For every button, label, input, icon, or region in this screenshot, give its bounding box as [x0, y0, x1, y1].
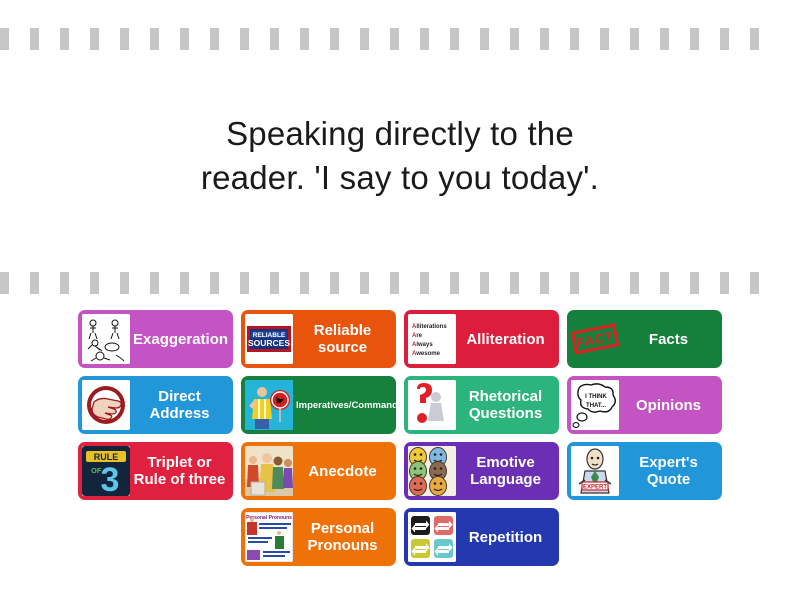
answer-card-label: Direct Address — [130, 388, 229, 422]
divider-dash — [450, 272, 459, 294]
divider-dash — [360, 272, 369, 294]
answer-card-label: Personal Pronouns — [293, 520, 392, 554]
rule-of-three-thumb: RULEOF3 — [82, 446, 130, 496]
divider-dash — [90, 28, 99, 50]
divider-dash — [180, 28, 189, 50]
divider-dash — [420, 272, 429, 294]
answer-card-repetition[interactable]: Repetition — [404, 508, 559, 566]
emotion-faces-thumb — [408, 446, 456, 496]
answer-card-label: Repetition — [456, 529, 555, 546]
fact-stamp-thumb: FACT — [571, 314, 619, 364]
divider-dash — [600, 272, 609, 294]
divider-dash — [300, 28, 309, 50]
divider-dash — [270, 272, 279, 294]
divider-dash — [540, 272, 549, 294]
answer-row: Personal PronounsPersonal PronounsRepeti… — [241, 508, 559, 566]
divider-dash — [210, 272, 219, 294]
divider-dash — [0, 28, 9, 50]
worker-stop-sign-thumb — [245, 380, 293, 430]
divider-dash — [720, 28, 729, 50]
divider-dash — [30, 28, 39, 50]
alliteration-text-thumb: AlliterationsAreAlwaysAwesome — [408, 314, 456, 364]
question-text: Speaking directly to the reader. 'I say … — [0, 112, 800, 200]
answer-card-label: Alliteration — [456, 331, 555, 348]
question-mark-figure-thumb — [408, 380, 456, 430]
personal-pronouns-thumb: Personal Pronouns — [245, 512, 293, 562]
divider-dash — [630, 272, 639, 294]
answer-row: Direct AddressImperatives/CommandsRhetor… — [78, 376, 722, 434]
divider-dash — [270, 28, 279, 50]
svg-text:THAT...: THAT... — [586, 403, 606, 409]
people-scene-thumb — [245, 446, 293, 496]
answer-card-anecdote[interactable]: Anecdote — [241, 442, 396, 500]
divider-dash — [510, 272, 519, 294]
answer-card-label: Reliable source — [293, 322, 392, 356]
divider-dash — [660, 28, 669, 50]
answer-card-exaggeration[interactable]: Exaggeration — [78, 310, 233, 368]
answer-card-label: Rhetorical Questions — [456, 388, 555, 422]
expert-figure-thumb: EXPERT — [571, 446, 619, 496]
divider-dash — [720, 272, 729, 294]
answer-card-facts[interactable]: FACTFacts — [567, 310, 722, 368]
svg-text:3: 3 — [101, 461, 120, 496]
sketch-figures-thumb — [82, 314, 130, 364]
answer-row: ExaggerationRELIABLESOURCESReliable sour… — [78, 310, 722, 368]
answer-card-personal-pronouns[interactable]: Personal PronounsPersonal Pronouns — [241, 508, 396, 566]
divider-dash — [150, 28, 159, 50]
divider-dash — [480, 28, 489, 50]
answer-card-alliteration[interactable]: AlliterationsAreAlwaysAwesomeAlliteratio… — [404, 310, 559, 368]
divider-dash — [300, 272, 309, 294]
divider-dash — [240, 272, 249, 294]
answer-card-direct-address[interactable]: Direct Address — [78, 376, 233, 434]
divider-dash — [390, 272, 399, 294]
divider-dash — [120, 28, 129, 50]
svg-text:Awesome: Awesome — [412, 351, 441, 357]
answer-card-experts-quote[interactable]: EXPERTExpert's Quote — [567, 442, 722, 500]
answer-row: RULEOF3Triplet or Rule of threeAnecdoteE… — [78, 442, 722, 500]
question-line-2: reader. 'I say to you today'. — [0, 156, 800, 200]
thought-bubble-thumb: I THINKTHAT... — [571, 380, 619, 430]
divider-dash — [30, 272, 39, 294]
answer-card-imperatives[interactable]: Imperatives/Commands — [241, 376, 396, 434]
divider-dash — [600, 28, 609, 50]
answer-card-label: Facts — [619, 331, 718, 348]
dashed-divider-top — [0, 28, 800, 50]
answer-card-label: Imperatives/Commands — [293, 400, 396, 411]
divider-dash — [480, 272, 489, 294]
divider-dash — [150, 272, 159, 294]
divider-dash — [750, 272, 759, 294]
divider-dash — [180, 272, 189, 294]
divider-dash — [630, 28, 639, 50]
divider-dash — [0, 272, 9, 294]
svg-text:I THINK: I THINK — [585, 394, 607, 400]
divider-dash — [420, 28, 429, 50]
svg-text:SOURCES: SOURCES — [248, 338, 290, 348]
divider-dash — [570, 28, 579, 50]
repeat-arrows-thumb — [408, 512, 456, 562]
divider-dash — [570, 272, 579, 294]
reliable-sources-thumb: RELIABLESOURCES — [245, 314, 293, 364]
divider-dash — [90, 272, 99, 294]
answer-card-label: Expert's Quote — [619, 454, 718, 488]
svg-text:Are: Are — [412, 333, 423, 339]
answer-card-reliable-source[interactable]: RELIABLESOURCESReliable source — [241, 310, 396, 368]
divider-dash — [450, 28, 459, 50]
answer-card-label: Exaggeration — [130, 331, 231, 348]
divider-dash — [540, 28, 549, 50]
divider-dash — [120, 272, 129, 294]
answer-card-opinions[interactable]: I THINKTHAT...Opinions — [567, 376, 722, 434]
divider-dash — [660, 272, 669, 294]
answer-card-label: Triplet or Rule of three — [130, 454, 229, 488]
divider-dash — [750, 28, 759, 50]
divider-dash — [330, 272, 339, 294]
dashed-divider-middle — [0, 272, 800, 294]
pointing-finger-thumb — [82, 380, 130, 430]
question-line-1: Speaking directly to the — [0, 112, 800, 156]
svg-text:Alliterations: Alliterations — [412, 324, 447, 330]
divider-dash — [240, 28, 249, 50]
answer-card-grid: ExaggerationRELIABLESOURCESReliable sour… — [0, 310, 800, 566]
divider-dash — [210, 28, 219, 50]
divider-dash — [330, 28, 339, 50]
divider-dash — [690, 272, 699, 294]
answer-card-label: Emotive Language — [456, 454, 555, 488]
divider-dash — [60, 28, 69, 50]
divider-dash — [510, 28, 519, 50]
divider-dash — [360, 28, 369, 50]
svg-text:EXPERT: EXPERT — [583, 485, 607, 491]
divider-dash — [690, 28, 699, 50]
svg-text:Always: Always — [412, 342, 433, 348]
divider-dash — [390, 28, 399, 50]
quiz-page: Speaking directly to the reader. 'I say … — [0, 0, 800, 600]
answer-card-emotive[interactable]: Emotive Language — [404, 442, 559, 500]
answer-card-rhetorical[interactable]: Rhetorical Questions — [404, 376, 559, 434]
answer-card-triplet[interactable]: RULEOF3Triplet or Rule of three — [78, 442, 233, 500]
divider-dash — [60, 272, 69, 294]
answer-card-label: Anecdote — [293, 463, 392, 480]
answer-card-label: Opinions — [619, 397, 718, 414]
